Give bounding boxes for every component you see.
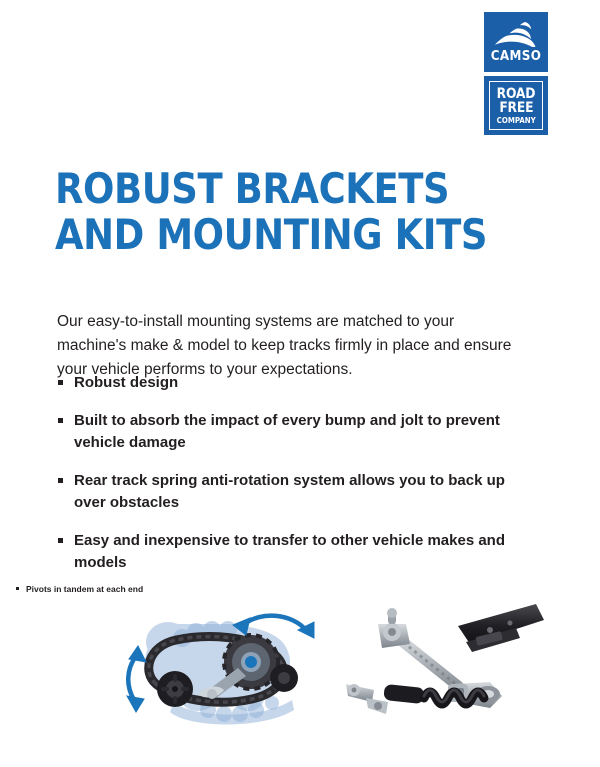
camso-logo-tile: CAMSO [484, 12, 548, 72]
list-item: Built to absorb the impact of every bump… [57, 410, 527, 454]
rubber-track-pivot-diagram [112, 602, 322, 732]
bullet-square-icon [58, 478, 63, 483]
road-free-company-logo-tile: ROAD FREE COMPANY [484, 76, 548, 135]
feature-list: Robust design Built to absorb the impact… [57, 372, 527, 574]
page-title: ROBUST BRACKETS AND MOUNTING KITS [55, 166, 425, 258]
sprocket-hub [245, 656, 257, 668]
camso-chevron-mark-icon [494, 21, 538, 47]
mounting-bracket-hardware-photo [340, 598, 545, 728]
road-free-line-2: FREE [499, 101, 533, 115]
list-item: Rear track spring anti-rotation system a… [57, 470, 527, 514]
black-mounting-bar [458, 604, 544, 652]
list-item: Robust design [57, 372, 527, 394]
illustration-row [0, 598, 600, 738]
idler-wheel [157, 671, 193, 707]
horizontal-pivot-arrow [233, 616, 314, 638]
bullet-square-icon [58, 380, 63, 385]
footnote-label: Pivots in tandem at each end [26, 584, 143, 594]
road-free-line-1: ROAD [497, 87, 536, 101]
bullet-square-icon [58, 418, 63, 423]
list-item-label: Easy and inexpensive to transfer to othe… [74, 530, 527, 574]
page-title-line-2: AND MOUNTING KITS [55, 212, 425, 258]
footnote-bullet-square-icon [16, 587, 19, 590]
footnote: Pivots in tandem at each end [16, 583, 143, 595]
road-free-company-border: ROAD FREE COMPANY [489, 81, 543, 130]
list-item: Easy and inexpensive to transfer to othe… [57, 530, 527, 574]
road-free-line-3: COMPANY [496, 117, 535, 125]
bullet-square-icon [58, 538, 63, 543]
page-title-line-1: ROBUST BRACKETS [55, 166, 425, 212]
brand-logo-stack: CAMSO ROAD FREE COMPANY [484, 12, 548, 135]
camso-wordmark: CAMSO [487, 50, 546, 63]
list-item-label: Robust design [74, 372, 527, 394]
vertical-pivot-arrow [127, 646, 146, 712]
intro-paragraph: Our easy-to-install mounting systems are… [57, 310, 525, 382]
rear-wheel [270, 664, 298, 692]
marketing-page: { "brand": { "logo_primary": { "wordmark… [0, 0, 600, 767]
list-item-label: Built to absorb the impact of every bump… [74, 410, 527, 454]
list-item-label: Rear track spring anti-rotation system a… [74, 470, 527, 514]
